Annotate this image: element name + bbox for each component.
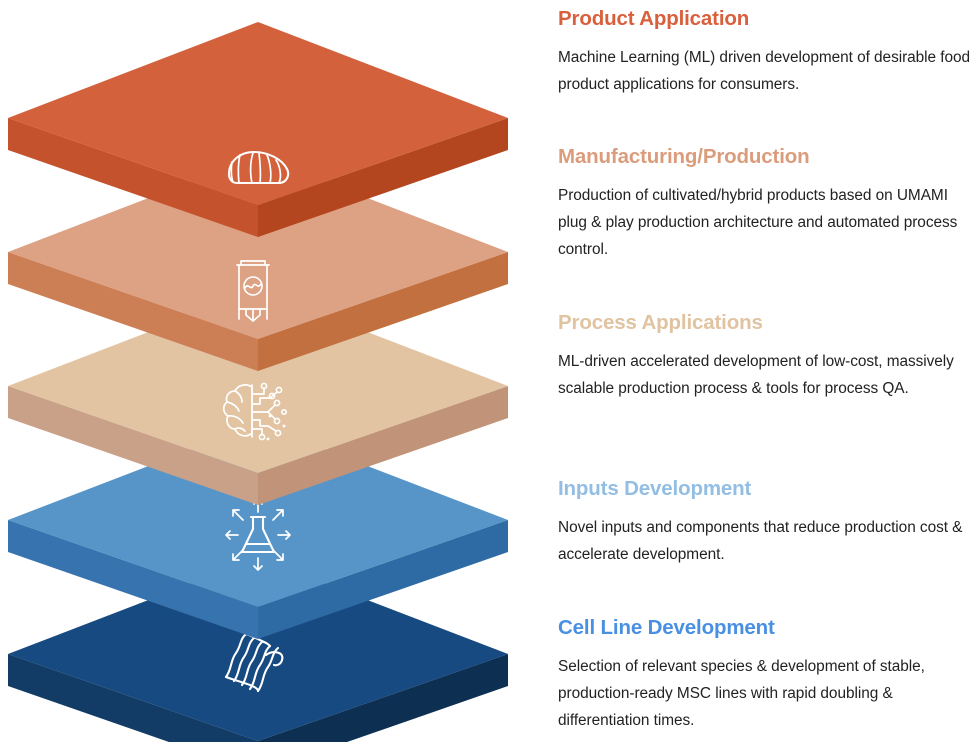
block-body: Production of cultivated/hybrid products… [558, 182, 972, 264]
layer-top-face [8, 22, 508, 205]
block-title: Process Applications [558, 312, 972, 335]
block-title: Inputs Development [558, 478, 972, 501]
block-title: Cell Line Development [558, 617, 972, 640]
block-body: Novel inputs and components that reduce … [558, 514, 972, 569]
infographic-stage: Product Application Machine Learning (ML… [0, 0, 972, 742]
block-title: Product Application [558, 8, 972, 31]
layer-stack-diagram [0, 0, 540, 742]
block-body: ML-driven accelerated development of low… [558, 348, 972, 403]
text-block-inputs-development: Inputs Development Novel inputs and comp… [558, 478, 972, 568]
layer-product-application[interactable] [8, 22, 508, 237]
text-block-product-application: Product Application Machine Learning (ML… [558, 8, 972, 98]
descriptions-column: Product Application Machine Learning (ML… [558, 0, 972, 742]
block-title: Manufacturing/Production [558, 146, 972, 169]
block-body: Machine Learning (ML) driven development… [558, 44, 972, 99]
text-block-process-applications: Process Applications ML-driven accelerat… [558, 312, 972, 402]
text-block-manufacturing-production: Manufacturing/Production Production of c… [558, 146, 972, 264]
text-block-cell-line-development: Cell Line Development Selection of relev… [558, 617, 972, 735]
block-body: Selection of relevant species & developm… [558, 653, 972, 735]
